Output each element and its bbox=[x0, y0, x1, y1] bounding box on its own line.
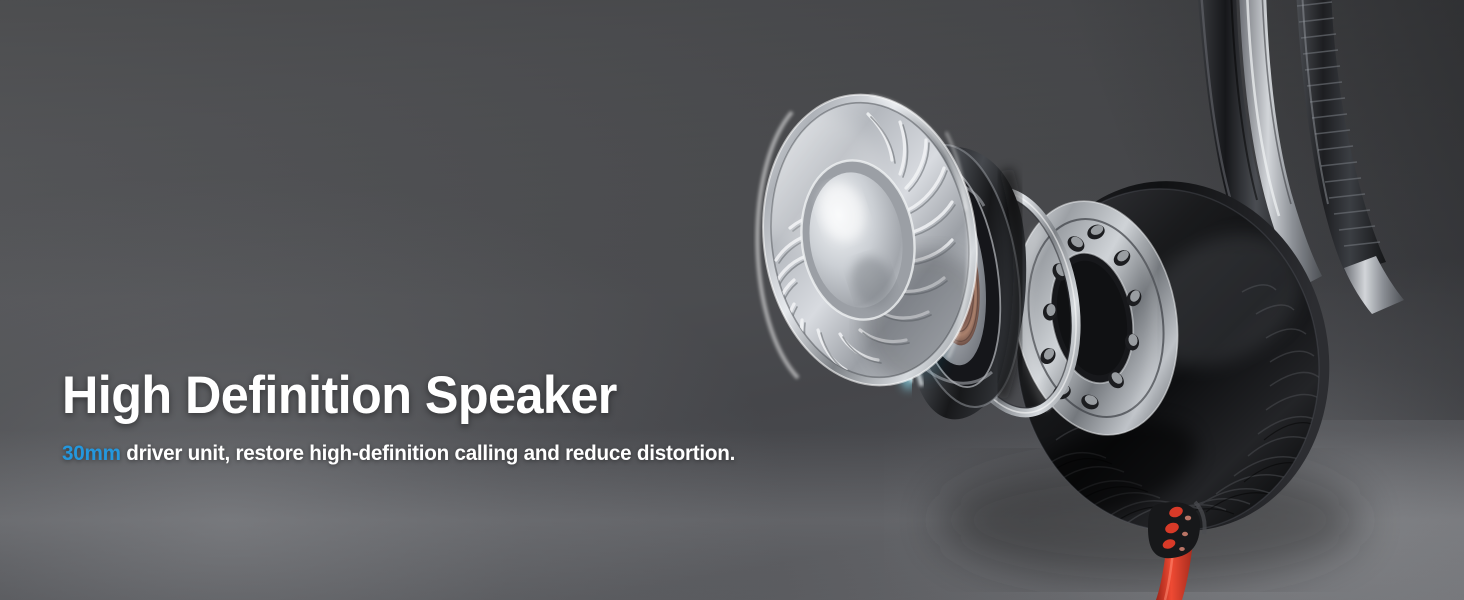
product-image bbox=[0, 0, 1464, 600]
page-title: High Definition Speaker bbox=[62, 368, 728, 424]
subtitle-rest: driver unit, restore high-definition cal… bbox=[121, 441, 735, 465]
text-block: High Definition Speaker 30mm driver unit… bbox=[62, 368, 763, 466]
boom-base bbox=[1344, 256, 1404, 314]
product-feature-banner: High Definition Speaker 30mm driver unit… bbox=[0, 0, 1464, 600]
subtitle-accent-value: 30mm bbox=[62, 441, 121, 465]
subtitle: 30mm driver unit, restore high-definitio… bbox=[62, 441, 735, 466]
